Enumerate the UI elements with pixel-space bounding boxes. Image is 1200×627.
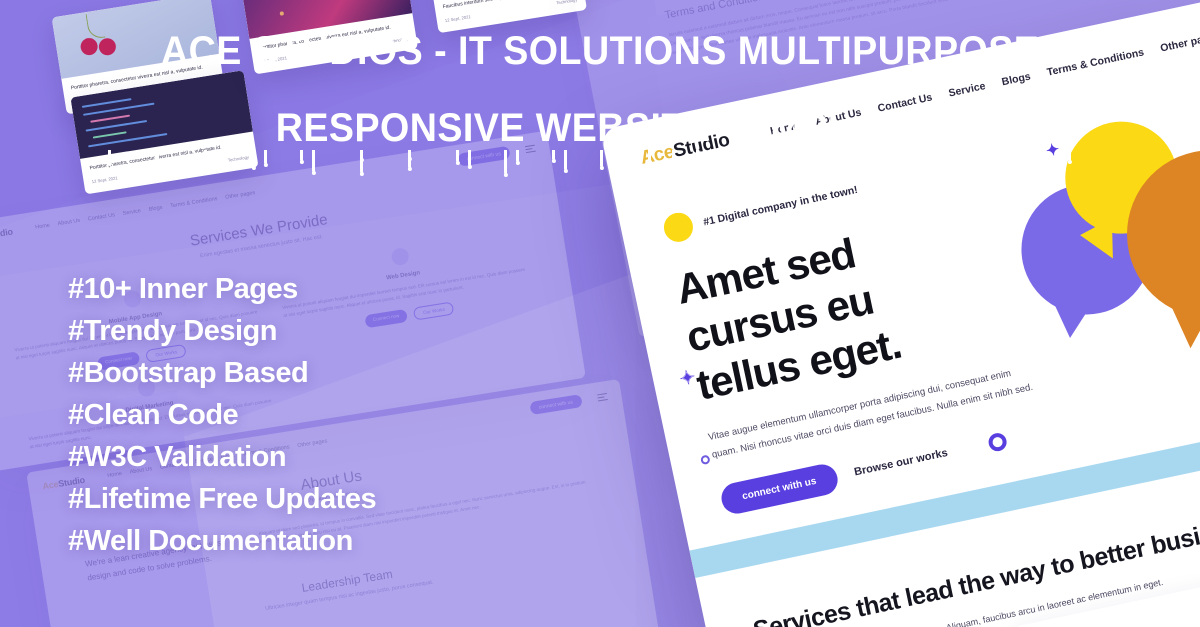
feature-item: #W3C Validation	[68, 436, 376, 478]
feature-item: #10+ Inner Pages	[68, 268, 376, 310]
about-mockup-cta: connect with us	[529, 394, 583, 415]
feature-item: #Lifetime Free Updates	[68, 478, 376, 520]
nav-link-service[interactable]: Service	[947, 80, 986, 100]
blog-card-tag: Technology	[228, 155, 250, 163]
blog-card-date: 12 Sept, 2021	[261, 56, 288, 65]
play-circle-icon[interactable]	[987, 431, 1008, 452]
nav-link-contact: Contact Us	[87, 212, 115, 222]
nav-link-blogs: Blogs	[148, 204, 163, 212]
feature-item: #Trendy Design	[68, 310, 376, 352]
feature-item: #Clean Code	[68, 394, 376, 436]
nav-link-about: About Us	[57, 217, 80, 226]
feature-item: #Well Documentation	[68, 520, 376, 562]
nav-link-about-us[interactable]: About Us	[814, 106, 862, 127]
feature-item: #Bootstrap Based	[68, 352, 376, 394]
logo-prefix: Ace	[639, 141, 676, 169]
nav-link-home: Home	[35, 222, 50, 230]
service-secondary-button: Our Works	[413, 301, 454, 320]
hero-badge-text: #1 Digital company in the town!	[702, 183, 859, 227]
nav-link-contact-us[interactable]: Contact Us	[877, 91, 934, 114]
nav-link-blogs[interactable]: Blogs	[1001, 70, 1032, 88]
poster-stage: Porttitor pharetra, consectetur viverra …	[0, 0, 1200, 627]
blog-card-date: 12 Sept, 2021	[91, 176, 118, 185]
nav-link-service: Service	[122, 208, 141, 217]
service-icon	[390, 247, 409, 266]
blog-card-date: 12 Sept, 2021	[445, 14, 472, 23]
yellow-dot-icon	[661, 210, 695, 244]
nav-link-other-pages[interactable]: Other pages	[1159, 30, 1200, 54]
services-mockup-cta: connect with us	[457, 146, 511, 167]
nav-link-terms: Terms & Conditions	[170, 196, 218, 209]
hamburger-icon	[597, 393, 608, 402]
feature-list: #10+ Inner Pages #Trendy Design #Bootstr…	[68, 268, 376, 562]
blog-card: Faucibus interdum sed imperdiet fames. U…	[424, 0, 588, 33]
blog-card-tag: Technology	[387, 36, 409, 44]
services-mockup-logo: AceStudio	[0, 226, 13, 243]
nav-link-home[interactable]: Home	[769, 119, 800, 137]
hero-connect-button[interactable]: connect with us	[719, 461, 840, 516]
nav-link-other: Other pages	[225, 190, 256, 201]
hero-browse-works-link[interactable]: Browse our works	[853, 447, 949, 479]
hamburger-icon	[525, 145, 536, 154]
blog-card: Porttitor pharetra, consectetur viverra …	[240, 0, 418, 75]
